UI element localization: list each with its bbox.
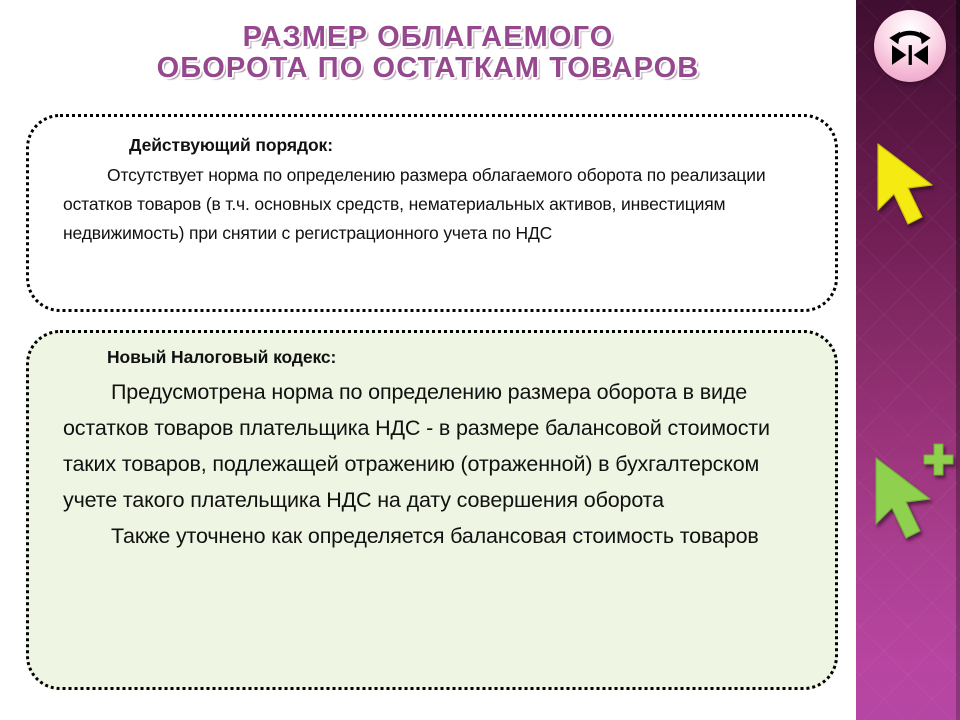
slide-root: РАЗМЕР ОБЛАГАЕМОГО ОБОРОТА ПО ОСТАТКАМ Т… bbox=[0, 0, 960, 720]
callout-current-order-heading: Действующий порядок: bbox=[129, 135, 813, 156]
sidebar-texture bbox=[856, 0, 960, 720]
right-sidebar bbox=[856, 0, 960, 720]
callout-new-tax-code-heading: Новый Налоговый кодекс: bbox=[107, 347, 813, 368]
merge-arrows-icon bbox=[883, 19, 937, 73]
arrow-cursor-icon bbox=[870, 140, 948, 232]
callout-current-order-body: Отсутствует норма по определению размера… bbox=[63, 161, 813, 248]
callout-current-order: Действующий порядок: Отсутствует норма п… bbox=[26, 114, 838, 312]
sidebar-edge-shadow bbox=[956, 0, 960, 720]
callout-new-tax-code: Новый Налоговый кодекс: Предусмотрена но… bbox=[26, 330, 838, 690]
pointer-green-add[interactable] bbox=[870, 440, 954, 540]
callout-new-tax-code-paragraph-1: Предусмотрена норма по определению разме… bbox=[63, 374, 813, 518]
page-title: РАЗМЕР ОБЛАГАЕМОГО ОБОРОТА ПО ОСТАТКАМ Т… bbox=[0, 22, 856, 85]
page-title-line-2: ОБОРОТА ПО ОСТАТКАМ ТОВАРОВ bbox=[0, 53, 856, 84]
arrow-cursor-plus-icon bbox=[870, 440, 954, 540]
pointer-yellow[interactable] bbox=[870, 140, 948, 232]
merge-collapse-button[interactable] bbox=[874, 10, 946, 82]
page-title-line-1: РАЗМЕР ОБЛАГАЕМОГО bbox=[0, 22, 856, 53]
callout-new-tax-code-paragraph-2: Также уточнено как определяется балансов… bbox=[63, 518, 813, 554]
